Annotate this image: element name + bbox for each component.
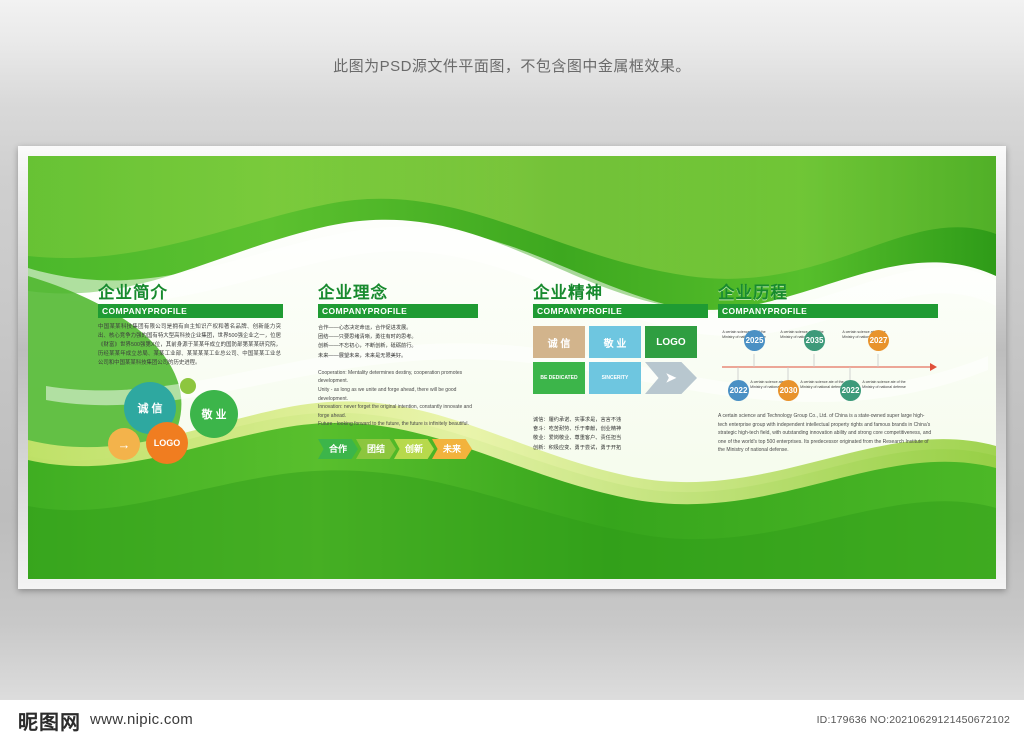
site-url: www.nipic.com	[90, 711, 193, 728]
c1-circle-arrow: →	[108, 428, 140, 460]
page-canvas: 此图为PSD源文件平面图，不包含图中金属框效果。	[0, 0, 1024, 742]
poster-artwork: 企业简介 COMPANYPROFILE 中国某某科技集团有限公司是拥有自主知识产…	[28, 156, 996, 579]
c4-title-cn: 企业历程	[718, 284, 938, 302]
c3-title-en: COMPANYPROFILE	[533, 304, 708, 318]
section-company-intro: 企业简介 COMPANYPROFILE 中国某某科技集团有限公司是拥有自主知识产…	[98, 284, 283, 486]
c1-circle-dot	[180, 378, 196, 394]
c4-bot-note-3: A certain science ate of the Ministry of…	[862, 380, 906, 390]
c3-title-cn: 企业精神	[533, 284, 708, 302]
c3-tile-dedicated: BE DEDICATED	[533, 362, 585, 394]
c4-timeline: A certain science ate of the Ministry of…	[718, 324, 938, 410]
metal-frame: 企业简介 COMPANYPROFILE 中国某某科技集团有限公司是拥有自主知识产…	[18, 146, 1006, 589]
section-company-history: 企业历程 COMPANYPROFILE A c	[718, 284, 938, 455]
c3-tile-chengxin: 诚 信	[533, 326, 585, 358]
c2-line-3: 创新——不忘初心，不断创新，砥砺前行。	[318, 342, 478, 351]
section-company-spirit: 企业精神 COMPANYPROFILE 诚 信 敬 业 LOGO BE DEDI…	[533, 284, 708, 453]
c4-bot-year-3: 2022	[840, 380, 861, 401]
c2-chevron-3: 创新	[394, 439, 434, 459]
c3-tile-logo: LOGO	[645, 326, 697, 358]
c1-title-en: COMPANYPROFILE	[98, 304, 283, 318]
c3-tile-sincerity: SINCERITY	[589, 362, 641, 394]
c1-paragraph: 中国某某科技集团有限公司是拥有自主知识产权和著名品牌、创新能力突出、核心竞争力强…	[98, 323, 281, 368]
c3-line-3: 敬业：爱岗敬业、尊重客户、责任担当	[533, 434, 708, 443]
c4-bot-note-2: A certain science ate of the Ministry of…	[800, 380, 844, 390]
c2-chevron-1: 合作	[318, 439, 358, 459]
c2-line-en-4: Future - looking forward to the future, …	[318, 420, 476, 429]
c4-top-year-1: 2025	[744, 330, 765, 351]
c3-line-4: 创新：积极应变、勇于尝试，勇于开拓	[533, 444, 708, 453]
c3-tile-arrow: ➤	[645, 362, 697, 394]
c4-top-year-3: 2027	[868, 330, 889, 351]
c1-circle-logo: LOGO	[146, 422, 188, 464]
c4-bot-year-2: 2030	[778, 380, 799, 401]
c3-line-1: 诚信：履约承诺、实事求是，言言不违	[533, 416, 708, 425]
c3-line-2: 奋斗：吃苦耐劳、乐于奉献，创业精神	[533, 425, 708, 434]
c2-line-4: 未来——展望未来，未来是无限美好。	[318, 352, 478, 361]
c4-top-year-2: 2035	[804, 330, 825, 351]
c4-bot-year-1: 2022	[728, 380, 749, 401]
c4-title-en: COMPANYPROFILE	[718, 304, 938, 318]
c2-chevron-4: 未来	[432, 439, 472, 459]
image-id-text: ID:179636 NO:20210629121450672102	[817, 714, 1010, 726]
section-company-philosophy: 企业理念 COMPANYPROFILE 合作——心态决定命运，合作促进发展。 团…	[318, 284, 478, 465]
c3-tile-jingye: 敬 业	[589, 326, 641, 358]
c2-line-en-2: Unity - as long as we unite and forge ah…	[318, 386, 476, 403]
site-logo: 昵图网	[18, 706, 81, 735]
c2-title-en: COMPANYPROFILE	[318, 304, 478, 318]
c4-paragraph-en: A certain science and Technology Group C…	[718, 412, 933, 455]
c2-line-1: 合作——心态决定命运，合作促进发展。	[318, 324, 478, 333]
c2-line-en-3: Innovation: never forget the original in…	[318, 403, 476, 420]
c2-line-2: 团结——只要思绪清晰，勇往有时的思考。	[318, 333, 478, 342]
c1-title-cn: 企业简介	[98, 284, 283, 302]
c1-circle-jingye: 敬 业	[190, 390, 238, 438]
notice-text: 此图为PSD源文件平面图，不包含图中金属框效果。	[0, 55, 1024, 76]
c2-line-en-1: Cooperation: Mentality determines destin…	[318, 369, 476, 386]
c2-title-cn: 企业理念	[318, 284, 478, 302]
c2-chevron-2: 团结	[356, 439, 396, 459]
